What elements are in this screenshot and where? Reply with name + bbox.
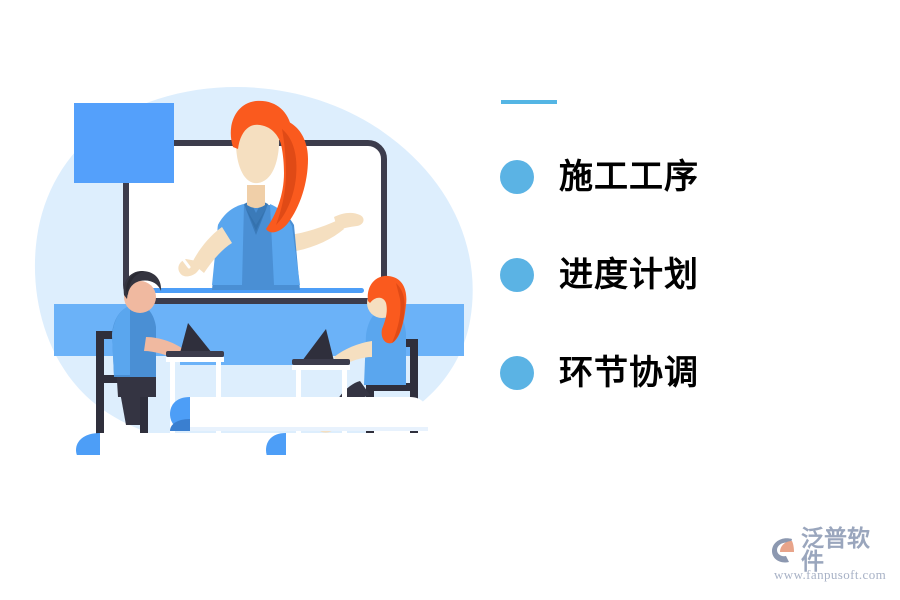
bullet-item-1-label: 施工工序 <box>559 160 699 194</box>
monitor-frame-bottom-edge <box>126 298 384 304</box>
bullet-dot-icon <box>500 356 534 390</box>
bullet-item-3: 环节协调 <box>500 348 870 398</box>
bullet-item-1: 施工工序 <box>500 152 870 202</box>
student-left-laptop-base <box>166 351 224 357</box>
brand-url: www.fanpusoft.com <box>774 567 892 583</box>
book-stack-upper <box>170 397 428 431</box>
book-stack-lower <box>76 433 480 455</box>
brand-logo-row: 泛普软件 <box>770 535 892 565</box>
brand-logo: 泛普软件 www.fanpusoft.com <box>770 535 892 583</box>
bullet-item-3-label: 环节协调 <box>559 356 699 390</box>
accent-bar-divider <box>501 100 557 104</box>
bullet-dot-icon <box>500 160 534 194</box>
online-classroom-illustration <box>30 85 490 455</box>
presentation-board <box>74 103 174 183</box>
bullet-item-2-label: 进度计划 <box>559 258 699 292</box>
bullet-list-panel: 施工工序 进度计划 环节协调 <box>500 100 870 398</box>
student-right-laptop-base <box>292 359 350 365</box>
slide-canvas: 施工工序 进度计划 环节协调 泛普软件 www.fanpusoft.com <box>0 0 900 600</box>
bullet-dot-icon <box>500 258 534 292</box>
bullet-item-2: 进度计划 <box>500 250 870 300</box>
fanpu-c-mark-icon <box>770 536 800 564</box>
